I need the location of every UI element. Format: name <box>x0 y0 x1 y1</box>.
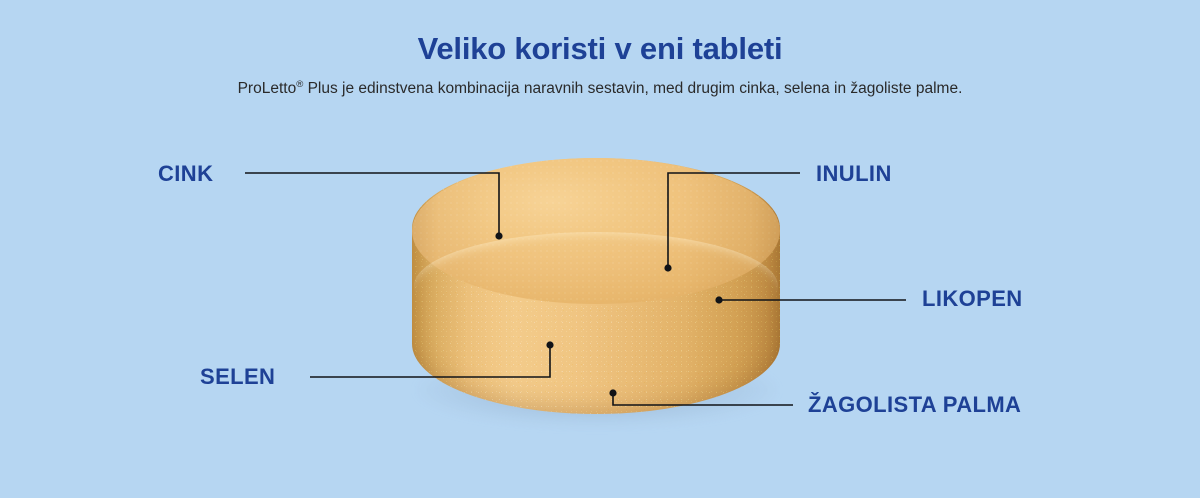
subtitle-text: Plus je edinstvena kombinacija naravnih … <box>303 80 962 97</box>
tablet-image <box>412 158 780 416</box>
infographic-banner: Veliko koristi v eni tableti ProLetto® P… <box>0 0 1200 498</box>
tablet-top-texture <box>412 158 780 304</box>
callout-label-selen: SELEN <box>200 366 275 388</box>
brand-name: ProLetto <box>238 80 297 97</box>
callout-label-zagolista-palma: ŽAGOLISTA PALMA <box>808 394 1021 416</box>
header: Veliko koristi v eni tableti ProLetto® P… <box>0 0 1200 99</box>
callout-label-cink: CINK <box>158 163 213 185</box>
callout-label-inulin: INULIN <box>816 163 892 185</box>
page-subtitle: ProLetto® Plus je edinstvena kombinacija… <box>0 67 1200 99</box>
page-title: Veliko koristi v eni tableti <box>0 0 1200 67</box>
callout-label-likopen: LIKOPEN <box>922 288 1023 310</box>
